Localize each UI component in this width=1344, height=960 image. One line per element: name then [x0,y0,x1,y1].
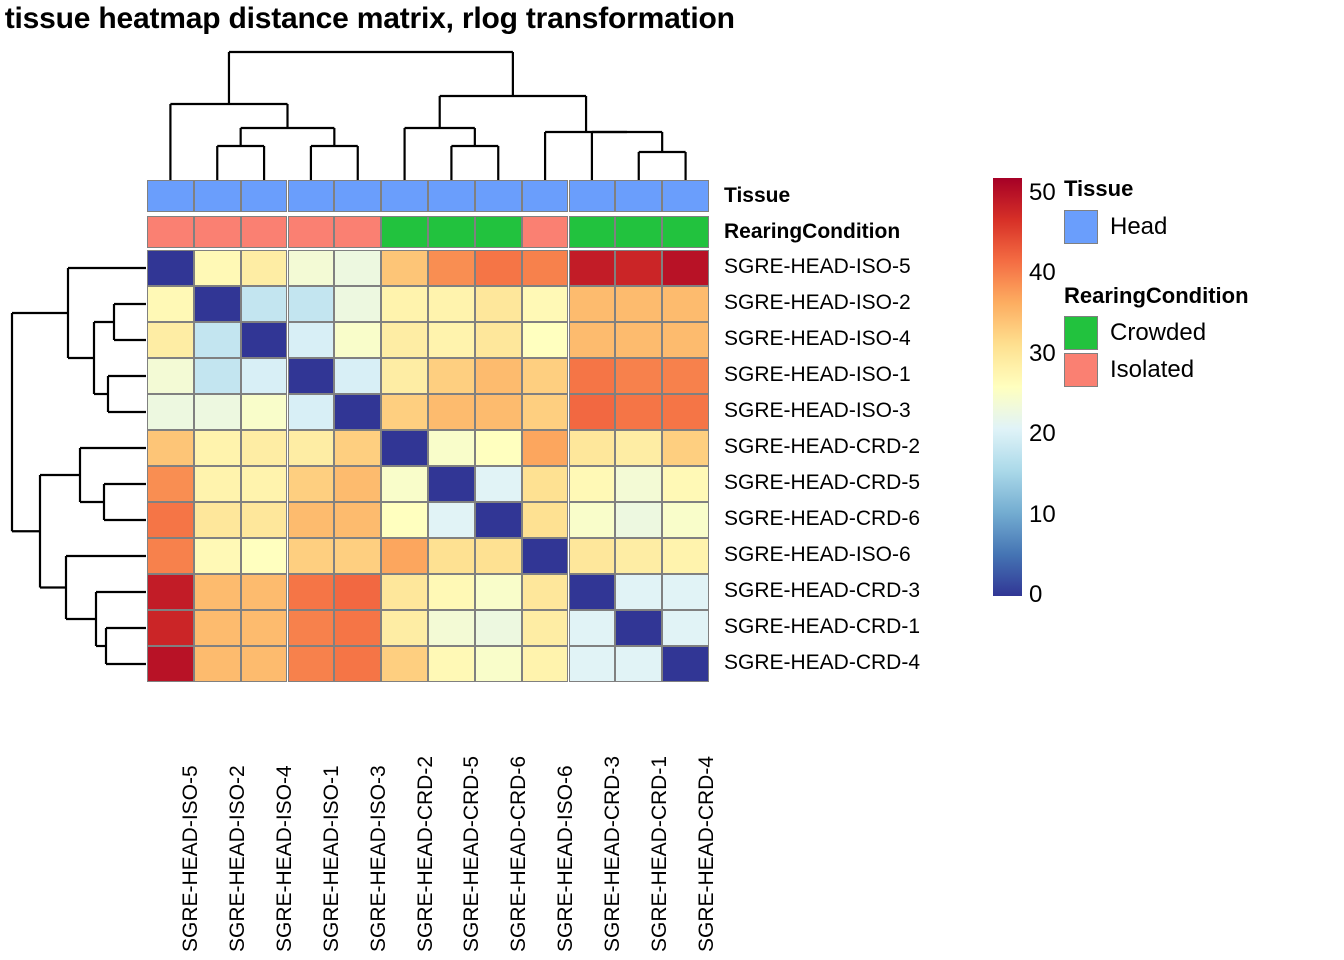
heatmap-cell [334,250,381,286]
heatmap-cell [241,502,288,538]
legend-tissue-swatch [1064,210,1098,244]
colorbar-tick-label: 50 [1029,179,1056,207]
heatmap-cell [662,358,709,394]
heatmap-cell [662,574,709,610]
heatmap-cell [241,286,288,322]
heatmap-cell [147,286,194,322]
rearing-annotation-cell [569,216,616,248]
heatmap-cell [475,574,522,610]
heatmap-cell [522,646,569,682]
heatmap-cell [615,466,662,502]
heatmap-cell [615,610,662,646]
heatmap-cell [288,574,335,610]
heatmap-cell [428,430,475,466]
column-label: SGRE-HEAD-ISO-4 [273,765,297,952]
heatmap-cell [569,322,616,358]
heatmap-cell [615,574,662,610]
heatmap-cell [475,646,522,682]
heatmap-cell [241,430,288,466]
heatmap-cell [147,502,194,538]
heatmap-cell [428,394,475,430]
heatmap-cell [241,574,288,610]
row-dendrogram [6,250,146,680]
row-label: SGRE-HEAD-CRD-5 [724,471,920,495]
heatmap-cell [381,286,428,322]
legend-rearing-label: Isolated [1110,356,1194,384]
heatmap-cell [194,466,241,502]
heatmap-cell [569,286,616,322]
heatmap-cell [475,430,522,466]
heatmap-cell [475,286,522,322]
row-label: SGRE-HEAD-ISO-3 [724,399,911,423]
heatmap-cell [475,466,522,502]
column-label: SGRE-HEAD-ISO-2 [226,765,250,952]
tissue-annotation-label: Tissue [724,184,790,208]
heatmap-cell [194,430,241,466]
heatmap-cell [241,358,288,394]
heatmap-cell [194,610,241,646]
heatmap-cell [662,646,709,682]
row-label: SGRE-HEAD-CRD-3 [724,579,920,603]
heatmap-cell [569,430,616,466]
legend-rearing-swatch [1064,353,1098,387]
heatmap-cell [381,322,428,358]
row-label: SGRE-HEAD-CRD-2 [724,435,920,459]
legend-rearing-label: Crowded [1110,319,1206,347]
rearing-annotation-cell [662,216,709,248]
heatmap-cell [569,646,616,682]
heatmap-cell [522,574,569,610]
tissue-annotation-bar [147,180,709,212]
heatmap-cell [569,250,616,286]
heatmap-cell [428,286,475,322]
heatmap-cell [428,610,475,646]
row-label: SGRE-HEAD-ISO-1 [724,363,911,387]
heatmap-cell [615,430,662,466]
heatmap-cell [381,394,428,430]
heatmap-cell [522,610,569,646]
row-label: SGRE-HEAD-ISO-5 [724,255,911,279]
heatmap-cell [194,502,241,538]
colorbar-tick-label: 20 [1029,420,1056,448]
heatmap-cell [662,538,709,574]
column-dendrogram [147,48,709,180]
tissue-annotation-cell [288,180,335,212]
heatmap-cell [194,538,241,574]
column-label: SGRE-HEAD-ISO-5 [179,765,203,952]
heatmap-cell [334,394,381,430]
row-label: SGRE-HEAD-ISO-4 [724,327,911,351]
heatmap-cell [288,394,335,430]
heatmap-cell [334,646,381,682]
tissue-annotation-cell [334,180,381,212]
heatmap-cell [615,250,662,286]
heatmap-cell [241,322,288,358]
heatmap-cell [662,394,709,430]
tissue-annotation-cell [522,180,569,212]
heatmap-cell [147,574,194,610]
rearing-annotation-cell [288,216,335,248]
heatmap-cell [194,574,241,610]
legend-tissue-label: Head [1110,213,1167,241]
heatmap-cell [288,322,335,358]
heatmap-cell [428,358,475,394]
column-label: SGRE-HEAD-CRD-4 [695,756,719,952]
heatmap-cell [522,322,569,358]
rearing-annotation-cell [522,216,569,248]
heatmap-cell [615,646,662,682]
heatmap-cell [569,502,616,538]
heatmap-cell [194,394,241,430]
heatmap-cell [381,466,428,502]
heatmap-cell [428,538,475,574]
rearing-annotation-cell [615,216,662,248]
heatmap-cell [288,358,335,394]
heatmap-cell [288,286,335,322]
heatmap-cell [334,466,381,502]
column-label: SGRE-HEAD-ISO-3 [367,765,391,952]
heatmap-cell [522,286,569,322]
rearing-annotation-cell [381,216,428,248]
heatmap-cell [147,538,194,574]
rearing-annotation-bar [147,216,709,248]
row-label: SGRE-HEAD-CRD-1 [724,615,920,639]
heatmap-cell [288,250,335,286]
tissue-annotation-cell [475,180,522,212]
heatmap-cell [428,466,475,502]
heatmap-cell [662,430,709,466]
heatmap-cell [569,610,616,646]
heatmap-cell [288,502,335,538]
heatmap-cell [615,322,662,358]
rearing-annotation-cell [428,216,475,248]
rearing-annotation-label: RearingCondition [724,220,900,244]
tissue-annotation-cell [428,180,475,212]
tissue-annotation-cell [662,180,709,212]
heatmap-cell [334,610,381,646]
heatmap-cell [569,574,616,610]
heatmap-cell [569,394,616,430]
heatmap-cell [147,394,194,430]
heatmap-cell [475,502,522,538]
heatmap-cell [381,646,428,682]
column-label: SGRE-HEAD-ISO-6 [554,765,578,952]
heatmap-grid [147,250,709,682]
heatmap-cell [147,646,194,682]
row-label: SGRE-HEAD-ISO-6 [724,543,911,567]
row-label: SGRE-HEAD-CRD-6 [724,507,920,531]
heatmap-cell [662,250,709,286]
heatmap-cell [662,466,709,502]
heatmap-cell [288,538,335,574]
heatmap-cell [288,646,335,682]
column-label: SGRE-HEAD-ISO-1 [320,765,344,952]
colorbar-tick-label: 30 [1029,340,1056,368]
page-title: ad tissue heatmap distance matrix, rlog … [0,2,735,36]
heatmap-cell [381,502,428,538]
tissue-annotation-cell [241,180,288,212]
heatmap-cell [147,322,194,358]
tissue-annotation-cell [147,180,194,212]
heatmap-cell [428,574,475,610]
column-label: SGRE-HEAD-CRD-3 [601,756,625,952]
colorbar-tick-label: 10 [1029,501,1056,529]
legend-rearing-swatch [1064,316,1098,350]
heatmap-cell [615,394,662,430]
heatmap-cell [147,358,194,394]
heatmap-cell [475,358,522,394]
column-label: SGRE-HEAD-CRD-6 [507,756,531,952]
heatmap-cell [522,394,569,430]
heatmap-cell [381,430,428,466]
heatmap-cell [288,430,335,466]
heatmap-cell [522,466,569,502]
heatmap-cell [194,646,241,682]
heatmap-cell [147,250,194,286]
heatmap-cell [334,574,381,610]
heatmap-cell [241,610,288,646]
tissue-annotation-cell [615,180,662,212]
heatmap-cell [662,286,709,322]
heatmap-cell [194,250,241,286]
heatmap-cell [475,322,522,358]
row-label: SGRE-HEAD-CRD-4 [724,651,920,675]
rearing-annotation-cell [147,216,194,248]
heatmap-cell [475,610,522,646]
heatmap-cell [147,610,194,646]
heatmap-cell [428,502,475,538]
heatmap-cell [194,322,241,358]
heatmap-cell [241,394,288,430]
heatmap-cell [615,502,662,538]
heatmap-cell [662,502,709,538]
heatmap-cell [288,610,335,646]
tissue-annotation-cell [194,180,241,212]
heatmap-cell [615,358,662,394]
heatmap-cell [381,250,428,286]
heatmap-cell [241,538,288,574]
heatmap-cell [334,286,381,322]
heatmap-cell [241,250,288,286]
column-label: SGRE-HEAD-CRD-5 [460,756,484,952]
heatmap-cell [615,538,662,574]
tissue-annotation-cell [569,180,616,212]
column-label: SGRE-HEAD-CRD-2 [414,756,438,952]
heatmap-cell [241,466,288,502]
colorbar-tick-label: 40 [1029,259,1056,287]
rearing-annotation-cell [194,216,241,248]
heatmap-cell [475,538,522,574]
heatmap-cell [428,322,475,358]
rearing-annotation-cell [334,216,381,248]
heatmap-cell [381,358,428,394]
heatmap-cell [662,610,709,646]
heatmap-cell [522,358,569,394]
heatmap-cell [241,646,288,682]
heatmap-cell [428,646,475,682]
heatmap-cell [522,538,569,574]
column-label: SGRE-HEAD-CRD-1 [648,756,672,952]
heatmap-cell [662,322,709,358]
heatmap-cell [428,250,475,286]
heatmap-cell [522,250,569,286]
heatmap-cell [334,430,381,466]
heatmap-cell [522,430,569,466]
legend-title-rearing: RearingCondition [1064,283,1249,309]
heatmap-cell [569,538,616,574]
heatmap-cell [381,610,428,646]
heatmap-cell [475,394,522,430]
heatmap-cell [381,538,428,574]
heatmap-cell [522,502,569,538]
heatmap-cell [194,358,241,394]
tissue-annotation-cell [381,180,428,212]
colorbar [993,178,1022,596]
heatmap-cell [334,322,381,358]
heatmap-cell [569,466,616,502]
heatmap-cell [147,430,194,466]
heatmap-cell [288,466,335,502]
heatmap-cell [475,250,522,286]
rearing-annotation-cell [475,216,522,248]
heatmap-cell [615,286,662,322]
heatmap-cell [569,358,616,394]
heatmap-cell [381,574,428,610]
heatmap-cell [194,286,241,322]
heatmap-cell [147,466,194,502]
heatmap-cell [334,358,381,394]
rearing-annotation-cell [241,216,288,248]
heatmap-cell [334,538,381,574]
legend-title-tissue: Tissue [1064,176,1133,202]
colorbar-tick-label: 0 [1029,581,1042,609]
heatmap-cell [334,502,381,538]
row-label: SGRE-HEAD-ISO-2 [724,291,911,315]
